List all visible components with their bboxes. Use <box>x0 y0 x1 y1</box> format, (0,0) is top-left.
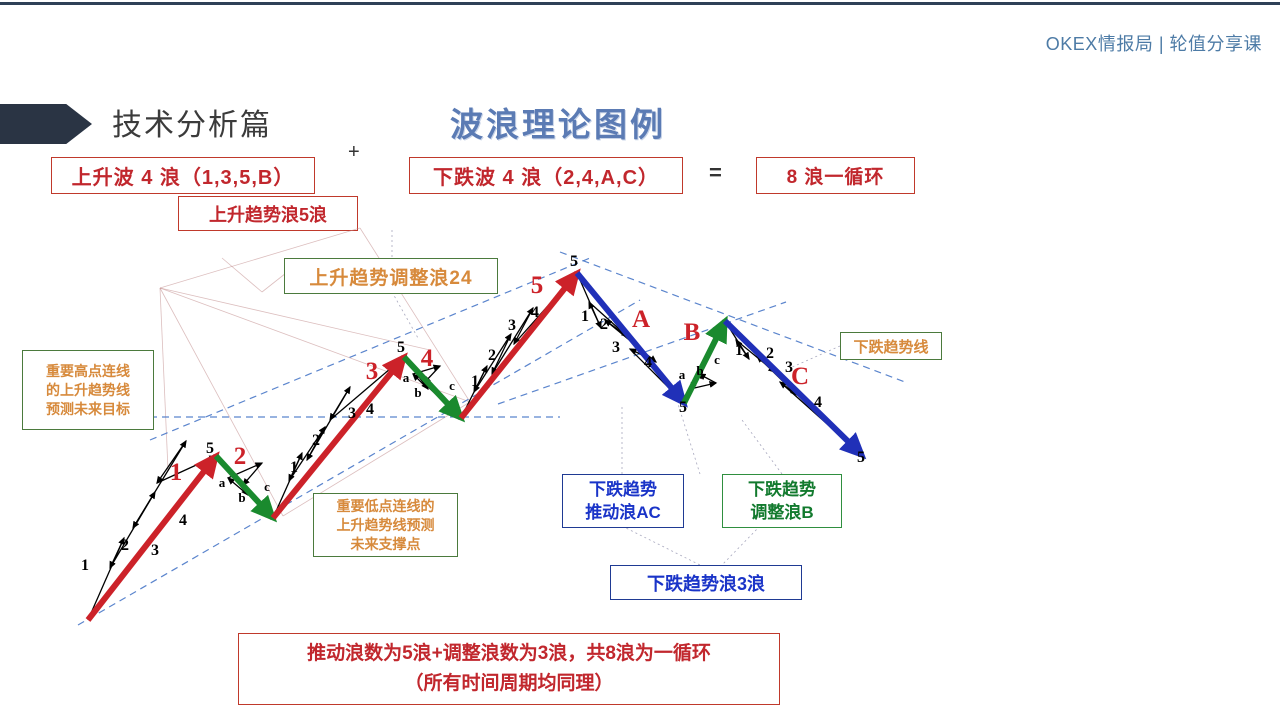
callout-adjust-b: 下跌趋势 调整浪B <box>722 474 842 528</box>
subwave-label-1-3: 3 <box>151 542 159 559</box>
callout-high-line-2: 的上升趋势线 <box>46 381 130 400</box>
major-wave-label-C: C <box>791 363 809 390</box>
subwave-label-1-5: 5 <box>206 440 214 457</box>
connector-6 <box>742 420 782 474</box>
callout-summary-line2: （所有时间周期均同理） <box>404 669 613 699</box>
subwave-label-5-5: 5 <box>570 253 578 270</box>
subwave-label-3-4: 4 <box>366 401 374 418</box>
subwave-label-B-c: c <box>714 352 720 367</box>
callout-low-line-1: 重要低点连线的 <box>337 497 435 516</box>
subwave-label-2-a: a <box>219 475 226 490</box>
subwave-label-2-c: c <box>264 479 270 494</box>
callout-high-point-trendline: 重要高点连线 的上升趋势线 预测未来目标 <box>22 350 154 430</box>
subwave-label-5-4: 4 <box>531 304 539 321</box>
wave-theory-diagram: 12345abc12345abc1234512345abc1234512345A… <box>0 0 1280 720</box>
connector-4 <box>622 526 700 565</box>
subwave-label-C-4: 4 <box>814 394 822 411</box>
callout-down-wave-3: 下跌趋势浪3浪 <box>610 565 802 600</box>
subwave-label-1-2: 2 <box>121 537 129 554</box>
subwave-arrow-3-5 <box>330 387 350 420</box>
subwave-label-3-5: 5 <box>397 339 405 356</box>
callout-impulse-ac-line1: 下跌趋势 <box>589 478 657 501</box>
subwave-label-C-5: 5 <box>857 449 865 466</box>
callout-low-point-trendline: 重要低点连线的 上升趋势线预测 未来支撑点 <box>313 493 458 557</box>
callout-low-line-2: 上升趋势线预测 <box>337 516 435 535</box>
callout-summary: 推动浪数为5浪+调整浪数为3浪，共8浪为一循环 （所有时间周期均同理） <box>238 633 780 705</box>
callout-adjust-b-line2: 调整浪B <box>750 501 813 524</box>
subwave-label-3-1: 1 <box>290 459 298 476</box>
callout-impulse-ac-line2: 推动浪AC <box>585 501 661 524</box>
subwave-label-A-4: 4 <box>644 354 652 371</box>
subwave-label-1-4: 4 <box>179 512 187 529</box>
subwave-label-C-1: 1 <box>735 342 743 359</box>
major-wave-label-2: 2 <box>234 443 247 470</box>
subwave-label-5-3: 3 <box>508 317 516 334</box>
callout-down-trendline: 下跌趋势线 <box>840 332 942 360</box>
callout-low-line-3: 未来支撑点 <box>351 535 421 554</box>
subwave-label-B-b: b <box>696 363 703 378</box>
callout-adjust-wave-24: 上升趋势调整浪24 <box>284 258 498 294</box>
construction-line-4 <box>160 288 168 470</box>
subwave-label-A-1: 1 <box>581 308 589 325</box>
subwave-label-A-2: 2 <box>600 316 608 333</box>
callout-high-line-3: 预测未来目标 <box>46 400 130 419</box>
subwave-label-3-3: 3 <box>348 405 356 422</box>
callout-high-line-1: 重要高点连线 <box>46 362 130 381</box>
connector-5 <box>722 526 760 565</box>
subwave-label-5-2: 2 <box>488 347 496 364</box>
callout-adjust-b-line1: 下跌趋势 <box>748 478 816 501</box>
major-wave-arrow-5 <box>461 273 577 418</box>
subwave-label-A-3: 3 <box>612 339 620 356</box>
major-wave-arrow-A <box>577 273 684 403</box>
major-wave-label-5: 5 <box>531 272 544 299</box>
major-wave-label-4: 4 <box>421 345 434 372</box>
callout-adjust-wave-24-line1: 上升趋势调整浪24 <box>309 263 472 290</box>
callout-down-trendline-label: 下跌趋势线 <box>853 336 928 357</box>
major-wave-arrow-1 <box>88 456 216 620</box>
subwave-label-B-a: a <box>679 367 686 382</box>
subwave-label-3-2: 2 <box>312 432 320 449</box>
subwave-label-5-1: 1 <box>471 373 479 390</box>
subwave-label-4-c: c <box>449 378 455 393</box>
subwave-label-1-1: 1 <box>81 557 89 574</box>
construction-line-1 <box>160 288 430 350</box>
subwave-label-2-b: b <box>238 490 245 505</box>
subwave-label-A-5: 5 <box>679 399 687 416</box>
major-wave-label-B: B <box>684 319 701 346</box>
subwave-label-4-a: a <box>403 370 410 385</box>
major-wave-label-3: 3 <box>366 358 379 385</box>
callout-down-wave-3-label: 下跌趋势浪3浪 <box>647 570 765 596</box>
subwave-label-C-2: 2 <box>766 345 774 362</box>
callout-summary-line1: 推动浪数为5浪+调整浪数为3浪，共8浪为一循环 <box>307 639 711 669</box>
major-wave-label-A: A <box>632 306 650 333</box>
subwave-label-4-b: b <box>414 385 421 400</box>
callout-impulse-ac: 下跌趋势 推动浪AC <box>562 474 684 528</box>
major-wave-label-1: 1 <box>170 459 183 486</box>
